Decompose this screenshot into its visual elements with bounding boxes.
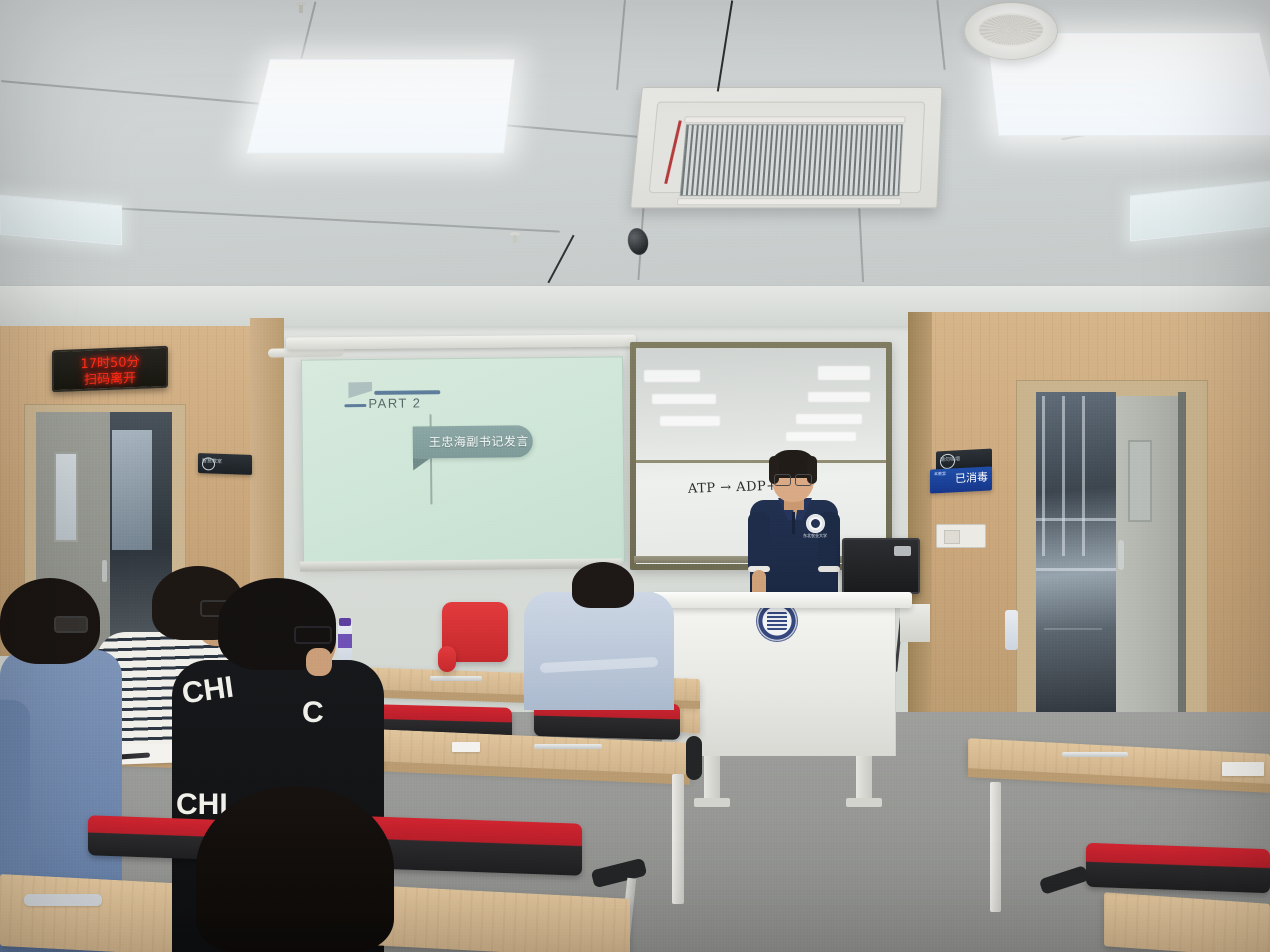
audience-person-long-hair	[196, 786, 394, 952]
prohibition-icon	[940, 453, 955, 469]
air-conditioner-icon	[630, 87, 943, 208]
projector-screen: PART 2 王忠海副书记发言	[301, 356, 625, 565]
shirt-fold	[540, 657, 658, 673]
door-hinge	[1178, 392, 1186, 718]
plaque-icon	[202, 457, 215, 470]
desk-cable-strip	[534, 744, 602, 749]
audience-person-blue-shirt	[524, 592, 674, 710]
ceiling-light-panel	[246, 59, 515, 154]
presenter-glasses	[774, 474, 812, 484]
podium-side-rail	[900, 604, 930, 642]
audience-person-glasses	[54, 616, 88, 633]
audience-person-shoulder	[0, 700, 30, 900]
door-handle[interactable]	[1118, 540, 1124, 570]
hoodie-letter: CHI	[180, 671, 236, 712]
ceiling-light-panel	[0, 195, 122, 246]
corridor-view	[1036, 392, 1116, 722]
podium-foot	[846, 798, 882, 807]
wood-wall-shadow	[908, 312, 932, 732]
classroom-photo: 17时50分 扫码离开 智慧教室 请勿吸烟 本教室 已消毒	[0, 0, 1270, 952]
presenter-placket	[792, 512, 795, 534]
ceiling-wire	[717, 0, 733, 91]
podium-foot	[694, 798, 730, 807]
room-plaque: 智慧教室	[198, 453, 252, 475]
red-chair-armrest[interactable]	[438, 646, 456, 672]
bottle-label	[338, 634, 352, 648]
hoodie-letter: C	[302, 696, 324, 730]
desk-paper	[452, 742, 480, 752]
disinfected-text: 已消毒	[955, 472, 988, 486]
light-switch-plate[interactable]	[936, 524, 986, 548]
audience-person-glasses	[294, 626, 332, 644]
audience-person-hair	[572, 562, 634, 608]
podium-top	[652, 592, 912, 608]
sprinkler-icon	[294, 2, 308, 14]
slide-banner-text: 王忠海副书记发言	[429, 432, 529, 450]
desk-leg	[672, 774, 684, 904]
ceiling-speaker-icon	[964, 2, 1058, 60]
whiteboard-divider	[636, 460, 886, 463]
chair	[1086, 843, 1270, 893]
ceiling	[0, 0, 1270, 330]
door-right-leaf[interactable]	[1116, 396, 1178, 718]
water-bottle	[1005, 610, 1018, 650]
desk-tag	[24, 894, 102, 906]
ceiling-light-panel	[1130, 181, 1270, 242]
door-handle[interactable]	[102, 560, 107, 582]
slide-rule	[374, 390, 440, 395]
slide-part-label: PART 2	[368, 395, 421, 411]
corridor-glass	[112, 430, 152, 550]
chair-armrest[interactable]	[686, 736, 702, 780]
slide-banner-tail	[413, 458, 430, 470]
chair	[366, 816, 582, 876]
disinfected-sub-text: 本教室	[934, 471, 946, 478]
desk-paper	[1222, 762, 1264, 776]
desk	[1104, 892, 1270, 952]
door-window	[1128, 440, 1152, 522]
desk-leg	[990, 782, 1001, 912]
security-camera-icon	[625, 226, 650, 257]
door-window	[54, 452, 78, 542]
desk-cable-strip	[430, 676, 482, 681]
led-message-text: 扫码离开	[54, 366, 166, 389]
desk-cable-strip	[1062, 752, 1128, 757]
led-notice-sign: 17时50分 扫码离开	[52, 346, 168, 392]
audience-person-hand	[306, 648, 332, 676]
polo-logo-text: 东北农业大学	[801, 533, 829, 539]
disinfected-sign: 本教室 已消毒	[930, 466, 992, 493]
presenter-cuff	[818, 566, 840, 572]
monitor-reflection	[894, 546, 911, 556]
presenter-sleeve	[748, 512, 770, 574]
bottle-cap	[339, 618, 351, 626]
slide-rule	[344, 404, 366, 407]
sprinkler-icon	[508, 232, 522, 244]
polo-logo-icon	[806, 514, 825, 533]
